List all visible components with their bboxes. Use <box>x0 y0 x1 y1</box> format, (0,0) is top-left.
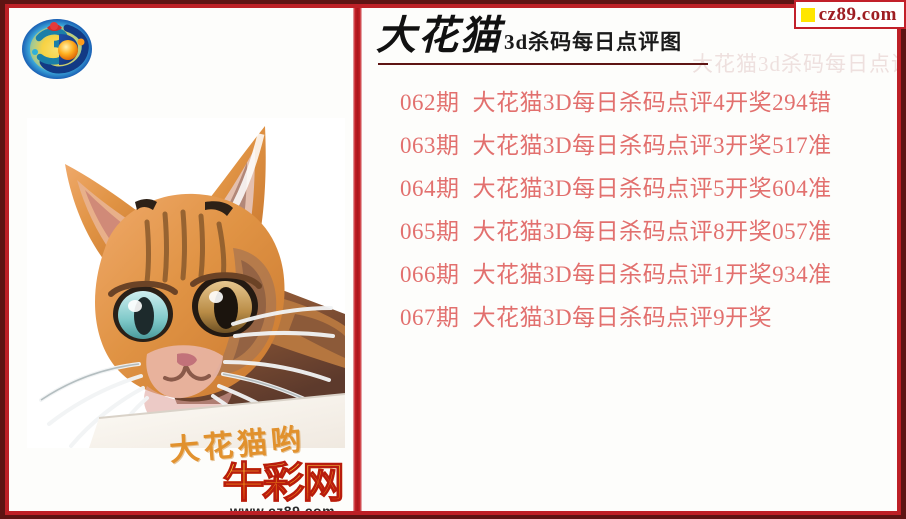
title-watermark: 大花猫3d杀码每日点评图 <box>692 48 898 78</box>
site-logo-url: www.cz89.com <box>195 503 353 511</box>
entry-list: 062期 大花猫3D每日杀码点评4开奖294错 063期 大花猫3D每日杀码点评… <box>362 78 898 336</box>
orange-tabby-cat-photo <box>27 118 345 448</box>
entry-text: 大花猫3D每日杀码点评5开奖604准 <box>473 169 832 203</box>
title-underline <box>378 63 708 65</box>
table-row[interactable]: 067期 大花猫3D每日杀码点评9开奖 <box>362 293 898 336</box>
entry-text: 大花猫3D每日杀码点评3开奖517准 <box>473 126 832 160</box>
table-row[interactable]: 063期 大花猫3D每日杀码点评3开奖517准 <box>362 121 898 164</box>
site-logo[interactable]: 牛彩网 www.cz89.com <box>195 463 353 511</box>
entry-issue: 062期 <box>400 83 460 117</box>
table-row[interactable]: 064期 大花猫3D每日杀码点评5开奖604准 <box>362 164 898 207</box>
entry-issue: 065期 <box>400 212 460 246</box>
title-main: 大花猫 <box>376 16 502 56</box>
entry-text: 大花猫3D每日杀码点评8开奖057准 <box>473 212 832 246</box>
entry-text: 大花猫3D每日杀码点评4开奖294错 <box>473 83 832 117</box>
page-title: 大花猫 3d杀码每日点评图 <box>376 16 682 56</box>
table-row[interactable]: 066期 大花猫3D每日杀码点评1开奖934准 <box>362 250 898 293</box>
entry-text: 大花猫3D每日杀码点评1开奖934准 <box>473 255 832 289</box>
cz89-badge-label: cz89.com <box>819 5 897 24</box>
yellow-square-icon <box>801 8 815 22</box>
cz89-badge[interactable]: cz89.com <box>794 0 906 29</box>
3d-lottery-ball-logo-icon <box>21 18 93 80</box>
poster-root: 大花猫哟 牛彩网 www.cz89.com 大花猫3d杀码每日点评图 大花猫 3… <box>0 0 906 519</box>
entry-text: 大花猫3D每日杀码点评9开奖 <box>473 298 773 332</box>
panel-divider <box>353 4 362 515</box>
title-subtitle: 3d杀码每日点评图 <box>504 32 682 53</box>
table-row[interactable]: 065期 大花猫3D每日杀码点评8开奖057准 <box>362 207 898 250</box>
entry-issue: 066期 <box>400 255 460 289</box>
left-panel: 大花猫哟 牛彩网 www.cz89.com <box>9 8 353 511</box>
entry-issue: 064期 <box>400 169 460 203</box>
site-logo-mark: 牛彩网 <box>195 463 353 505</box>
entry-issue: 067期 <box>400 298 460 332</box>
right-panel: 大花猫3d杀码每日点评图 大花猫 3d杀码每日点评图 062期 大花猫3D每日杀… <box>362 8 898 511</box>
entry-issue: 063期 <box>400 126 460 160</box>
table-row[interactable]: 062期 大花猫3D每日杀码点评4开奖294错 <box>362 78 898 121</box>
